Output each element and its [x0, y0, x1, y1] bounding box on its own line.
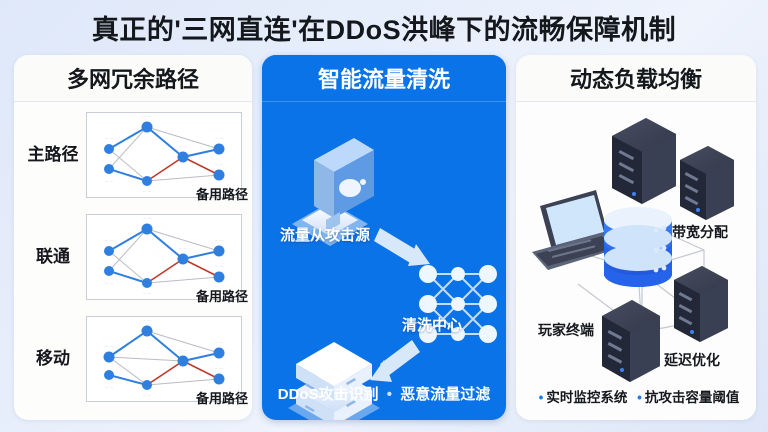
svg-text:··· ···: ··· ··· — [143, 217, 151, 221]
panel-right-footer: •实时监控系统 •抗攻击容量阈值 — [516, 386, 756, 406]
server-rack-icon — [602, 300, 660, 382]
svg-text:··· ···: ··· ··· — [143, 394, 151, 398]
scrubbing-flow-svg — [262, 102, 506, 420]
svg-text:··· ···: ··· ··· — [179, 349, 187, 353]
svg-text:··· ···: ··· ··· — [215, 265, 223, 269]
bullet-icon: • — [539, 390, 544, 405]
svg-text:··· ···: ··· ··· — [143, 292, 151, 296]
row-label-unicom: 联通 — [24, 242, 82, 267]
panel-intelligent-traffic-scrubbing: 智能流量清洗 — [262, 55, 506, 420]
panel-right-header: 动态负载均衡 — [516, 55, 756, 101]
panel-left-body: 主路径 — [14, 102, 252, 420]
svg-text:··· ···: ··· ··· — [105, 345, 113, 349]
panel-multi-network-redundancy: 多网冗余路径 主路径 — [14, 55, 252, 420]
svg-text:··· ···: ··· ··· — [105, 386, 113, 390]
footer-item-malicious-filter: 恶意流量过滤 — [400, 386, 490, 403]
server-rack-icon — [680, 146, 734, 220]
panel-mid-footer: DDoS攻击识别 • 恶意流量过滤 — [262, 383, 506, 404]
svg-text:··· ···: ··· ··· — [105, 282, 113, 286]
infographic-canvas: 真正的'三网直连'在DDoS洪峰下的流畅保障机制 多网冗余路径 主路径 — [0, 0, 768, 432]
label-latency-optimization: 延迟优化 — [664, 350, 720, 370]
svg-text:··· ···: ··· ··· — [215, 163, 223, 167]
network-row: 联通 — [14, 208, 252, 306]
network-row: 移动 — [14, 310, 252, 408]
svg-text:··· ···: ··· ··· — [179, 145, 187, 149]
server-rack-icon — [674, 266, 728, 342]
database-cylinder-icon — [604, 207, 672, 287]
svg-text:··· ···: ··· ··· — [143, 190, 151, 194]
svg-text:··· ···: ··· ··· — [105, 180, 113, 184]
network-row: 主路径 — [14, 106, 252, 204]
label-attack-source: 流量从攻击源 — [280, 224, 370, 245]
load-balancing-topology-svg — [516, 102, 756, 420]
panel-mid-header: 智能流量清洗 — [262, 55, 506, 101]
arrow-icon — [374, 228, 430, 266]
svg-text:··· ···: ··· ··· — [105, 137, 113, 141]
label-scrubbing-center: 清洗中心 — [402, 314, 462, 335]
row-label-primary: 主路径 — [24, 140, 82, 165]
footer-item-monitoring: 实时监控系统 — [546, 390, 627, 405]
panel-left-header: 多网冗余路径 — [14, 55, 252, 101]
page-title: 真正的'三网直连'在DDoS洪峰下的流畅保障机制 — [0, 8, 768, 47]
svg-text:··· ···: ··· ··· — [215, 341, 223, 345]
row-alt-label: 备用路径 — [196, 388, 248, 407]
bullet-separator: • — [387, 386, 392, 403]
svg-text:··· ···: ··· ··· — [143, 319, 151, 323]
panel-mid-body: 流量从攻击源 清洗中心 DDoS攻击识别 • 恶意流量过滤 — [262, 102, 506, 420]
svg-text:··· ···: ··· ··· — [143, 115, 151, 119]
label-bandwidth-allocation: 带宽分配 — [672, 222, 728, 242]
row-alt-label: 备用路径 — [196, 286, 248, 305]
panel-right-body: 玩家终端 带宽分配 延迟优化 •实时监控系统 •抗攻击容量阈值 — [516, 102, 756, 420]
footer-item-ddos-detection: DDoS攻击识别 — [278, 386, 379, 403]
svg-text:··· ···: ··· ··· — [105, 239, 113, 243]
isometric-server-stack-icon — [288, 342, 380, 420]
footer-item-capacity-threshold: 抗攻击容量阈值 — [645, 390, 740, 405]
arrow-icon — [370, 340, 420, 382]
svg-text:··· ···: ··· ··· — [215, 239, 223, 243]
row-alt-label: 备用路径 — [196, 184, 248, 203]
label-player-terminal: 玩家终端 — [538, 320, 594, 340]
svg-text:··· ···: ··· ··· — [215, 137, 223, 141]
svg-text:··· ···: ··· ··· — [179, 247, 187, 251]
bullet-icon: • — [637, 390, 642, 405]
panel-dynamic-load-balancing: 动态负载均衡 — [516, 55, 756, 420]
server-rack-icon — [612, 118, 676, 204]
row-label-mobile: 移动 — [24, 344, 82, 369]
svg-text:··· ···: ··· ··· — [215, 367, 223, 371]
